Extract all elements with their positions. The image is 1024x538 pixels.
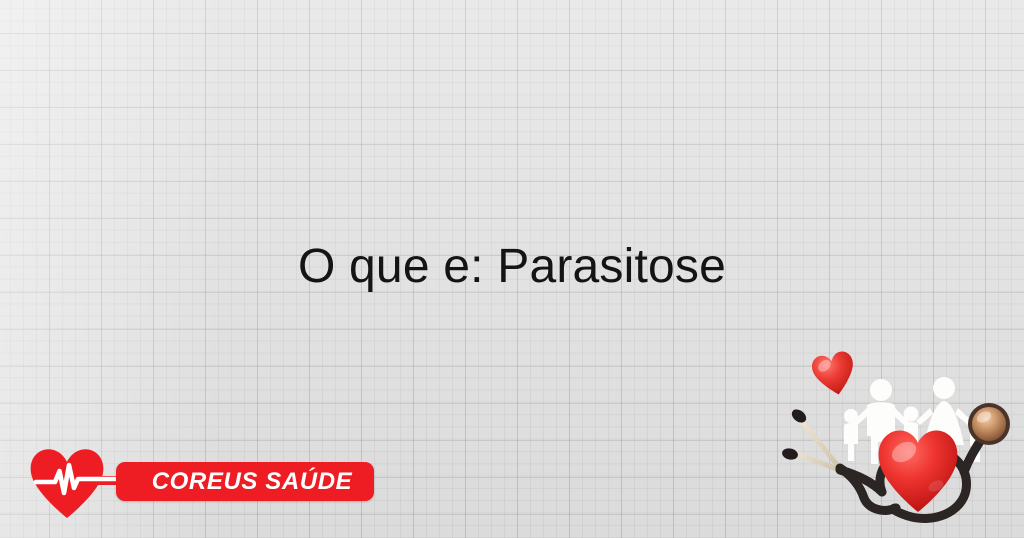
health-collage-graphic: [778, 348, 1024, 538]
small-red-heart-icon: [810, 350, 859, 399]
page-title: O que e: Parasitose: [0, 238, 1024, 296]
stethoscope-chestpiece-icon: [968, 403, 1010, 445]
slide-canvas: O que e: Parasitose COREUS SAÚDE: [0, 0, 1024, 538]
brand-name-label: COREUS SAÚDE: [140, 463, 364, 500]
brand-logo: COREUS SAÚDE: [28, 446, 358, 520]
